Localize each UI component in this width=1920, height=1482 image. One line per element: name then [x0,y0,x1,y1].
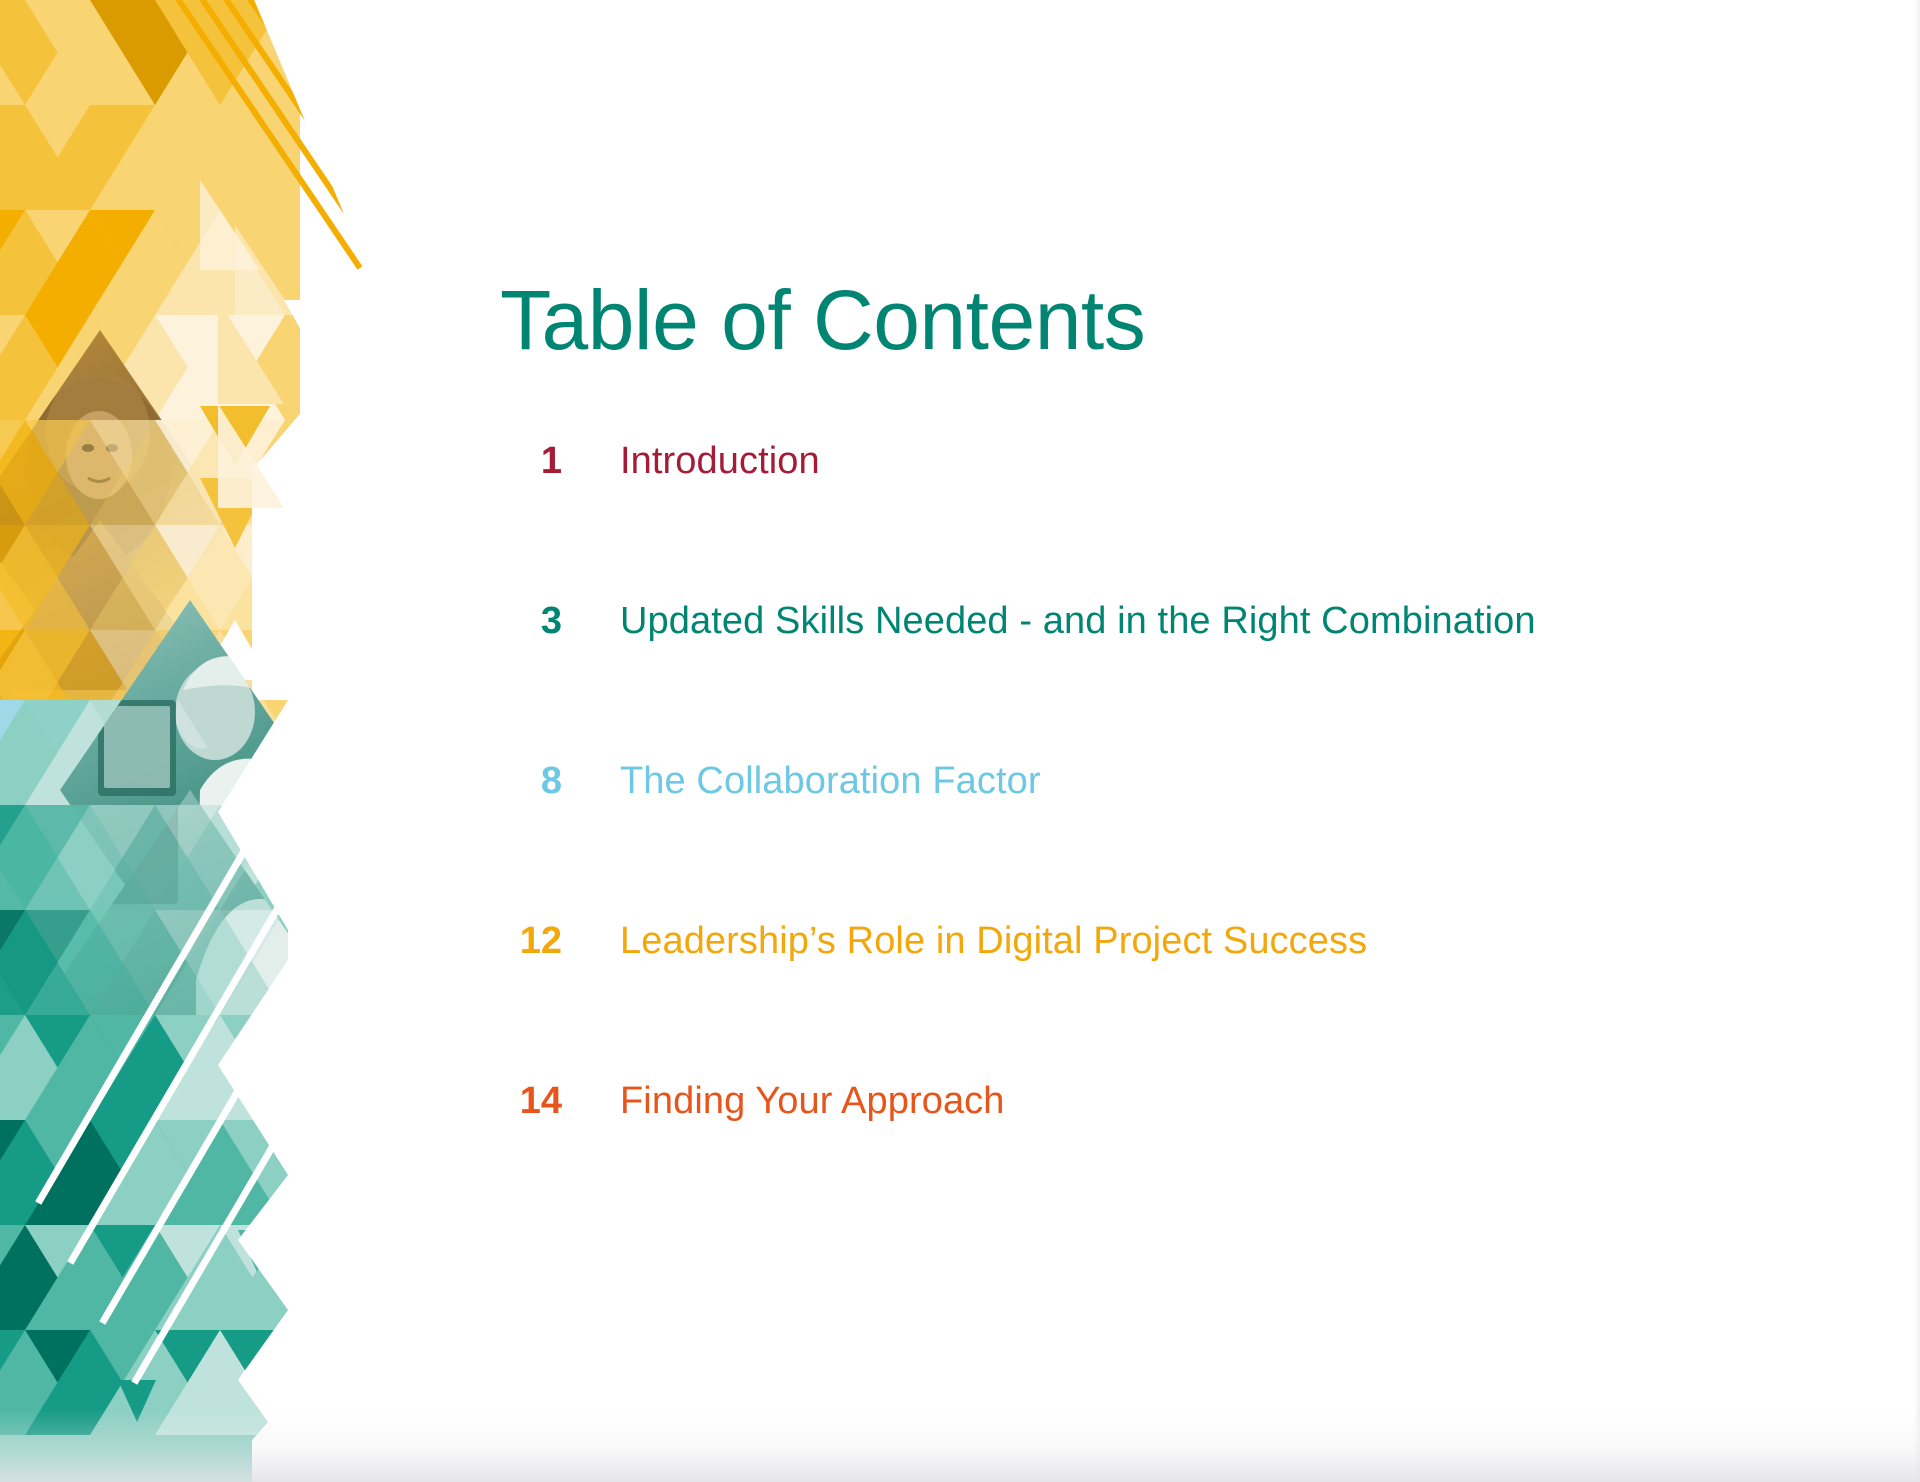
toc-entry-leaderships-role-in-digital-project-success[interactable]: 12 Leadership’s Role in Digital Project … [480,920,1780,1080]
toc-entry-label: Introduction [620,440,820,483]
toc-page-number: 1 [480,440,562,483]
toc-entry-label: Leadership’s Role in Digital Project Suc… [620,920,1367,963]
toc-entry-the-collaboration-factor[interactable]: 8 The Collaboration Factor [480,760,1780,920]
toc-entry-introduction[interactable]: 1 Introduction [480,440,1780,600]
toc-page-number: 8 [480,760,562,803]
toc-entry-finding-your-approach[interactable]: 14 Finding Your Approach [480,1080,1780,1240]
toc-entry-label: The Collaboration Factor [620,760,1041,803]
toc-page-number: 14 [480,1080,562,1123]
page-title: Table of Contents [500,278,1145,362]
slide-canvas: Table of Contents 1 Introduction 3 Updat… [0,0,1920,1482]
toc-page-number: 3 [480,600,562,643]
toc-entry-label: Finding Your Approach [620,1080,1005,1123]
slide-content: Table of Contents 1 Introduction 3 Updat… [0,0,1920,1482]
toc-page-number: 12 [480,920,562,963]
toc-entry-label: Updated Skills Needed - and in the Right… [620,600,1536,643]
toc-entry-updated-skills-needed[interactable]: 3 Updated Skills Needed - and in the Rig… [480,600,1780,760]
table-of-contents-list: 1 Introduction 3 Updated Skills Needed -… [480,440,1780,1240]
